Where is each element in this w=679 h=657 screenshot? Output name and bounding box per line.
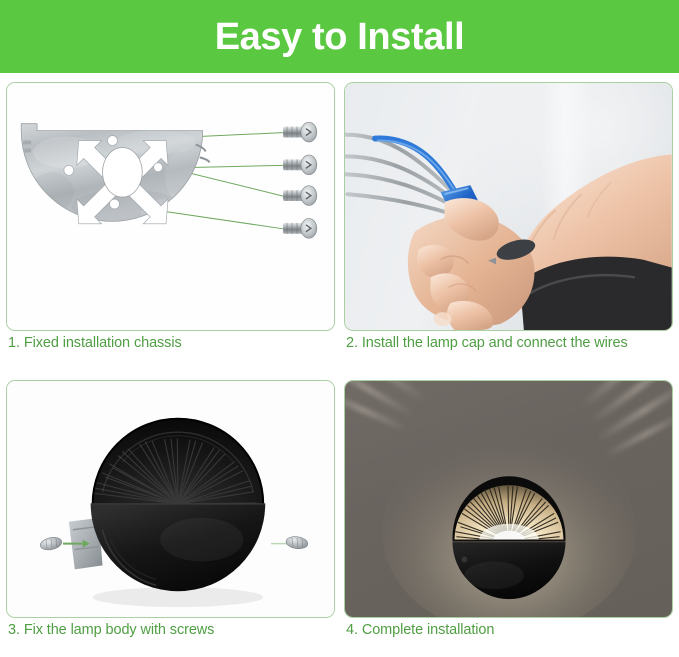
wire-connection-photo <box>345 83 672 330</box>
lamp-fan-dome <box>93 419 264 504</box>
screw-2 <box>283 155 317 175</box>
right-fixing-screw <box>271 535 308 550</box>
steps-grid: 1. Fixed installation chassis <box>0 73 679 657</box>
lamp-body-illustration <box>7 381 334 617</box>
screw-1 <box>283 122 317 142</box>
screw-4 <box>283 218 317 238</box>
lamp-lower-shell <box>91 504 266 591</box>
wire-connection-panel <box>344 82 673 331</box>
step-3: 3. Fix the lamp body with screws <box>6 380 335 626</box>
page-title: Easy to Install <box>215 18 465 56</box>
step-4-caption: 4. Complete installation <box>346 621 679 640</box>
installed-lamp-photo <box>345 381 672 617</box>
completed-installation-panel <box>344 380 673 618</box>
screw-group <box>283 122 317 238</box>
step-2: 2. Install the lamp cap and connect the … <box>344 82 673 338</box>
lamp-body-panel <box>6 380 335 618</box>
center-cable-hole <box>103 147 143 197</box>
hands-and-wires-svg <box>345 83 672 330</box>
chassis-svg <box>7 83 334 330</box>
left-hand <box>408 198 535 330</box>
lamp-body-svg <box>7 381 334 617</box>
chassis-illustration <box>7 83 334 330</box>
lit-lamp-svg <box>345 381 672 617</box>
step-1: 1. Fixed installation chassis <box>6 82 335 338</box>
step-2-caption: 2. Install the lamp cap and connect the … <box>346 334 679 353</box>
step-1-caption: 1. Fixed installation chassis <box>8 334 348 353</box>
screw-3 <box>283 186 317 206</box>
header-banner: Easy to Install <box>0 0 679 73</box>
step-4: 4. Complete installation <box>344 380 673 626</box>
chassis-plate <box>21 124 216 226</box>
mounting-chassis-panel <box>6 82 335 331</box>
step-3-caption: 3. Fix the lamp body with screws <box>8 621 348 640</box>
